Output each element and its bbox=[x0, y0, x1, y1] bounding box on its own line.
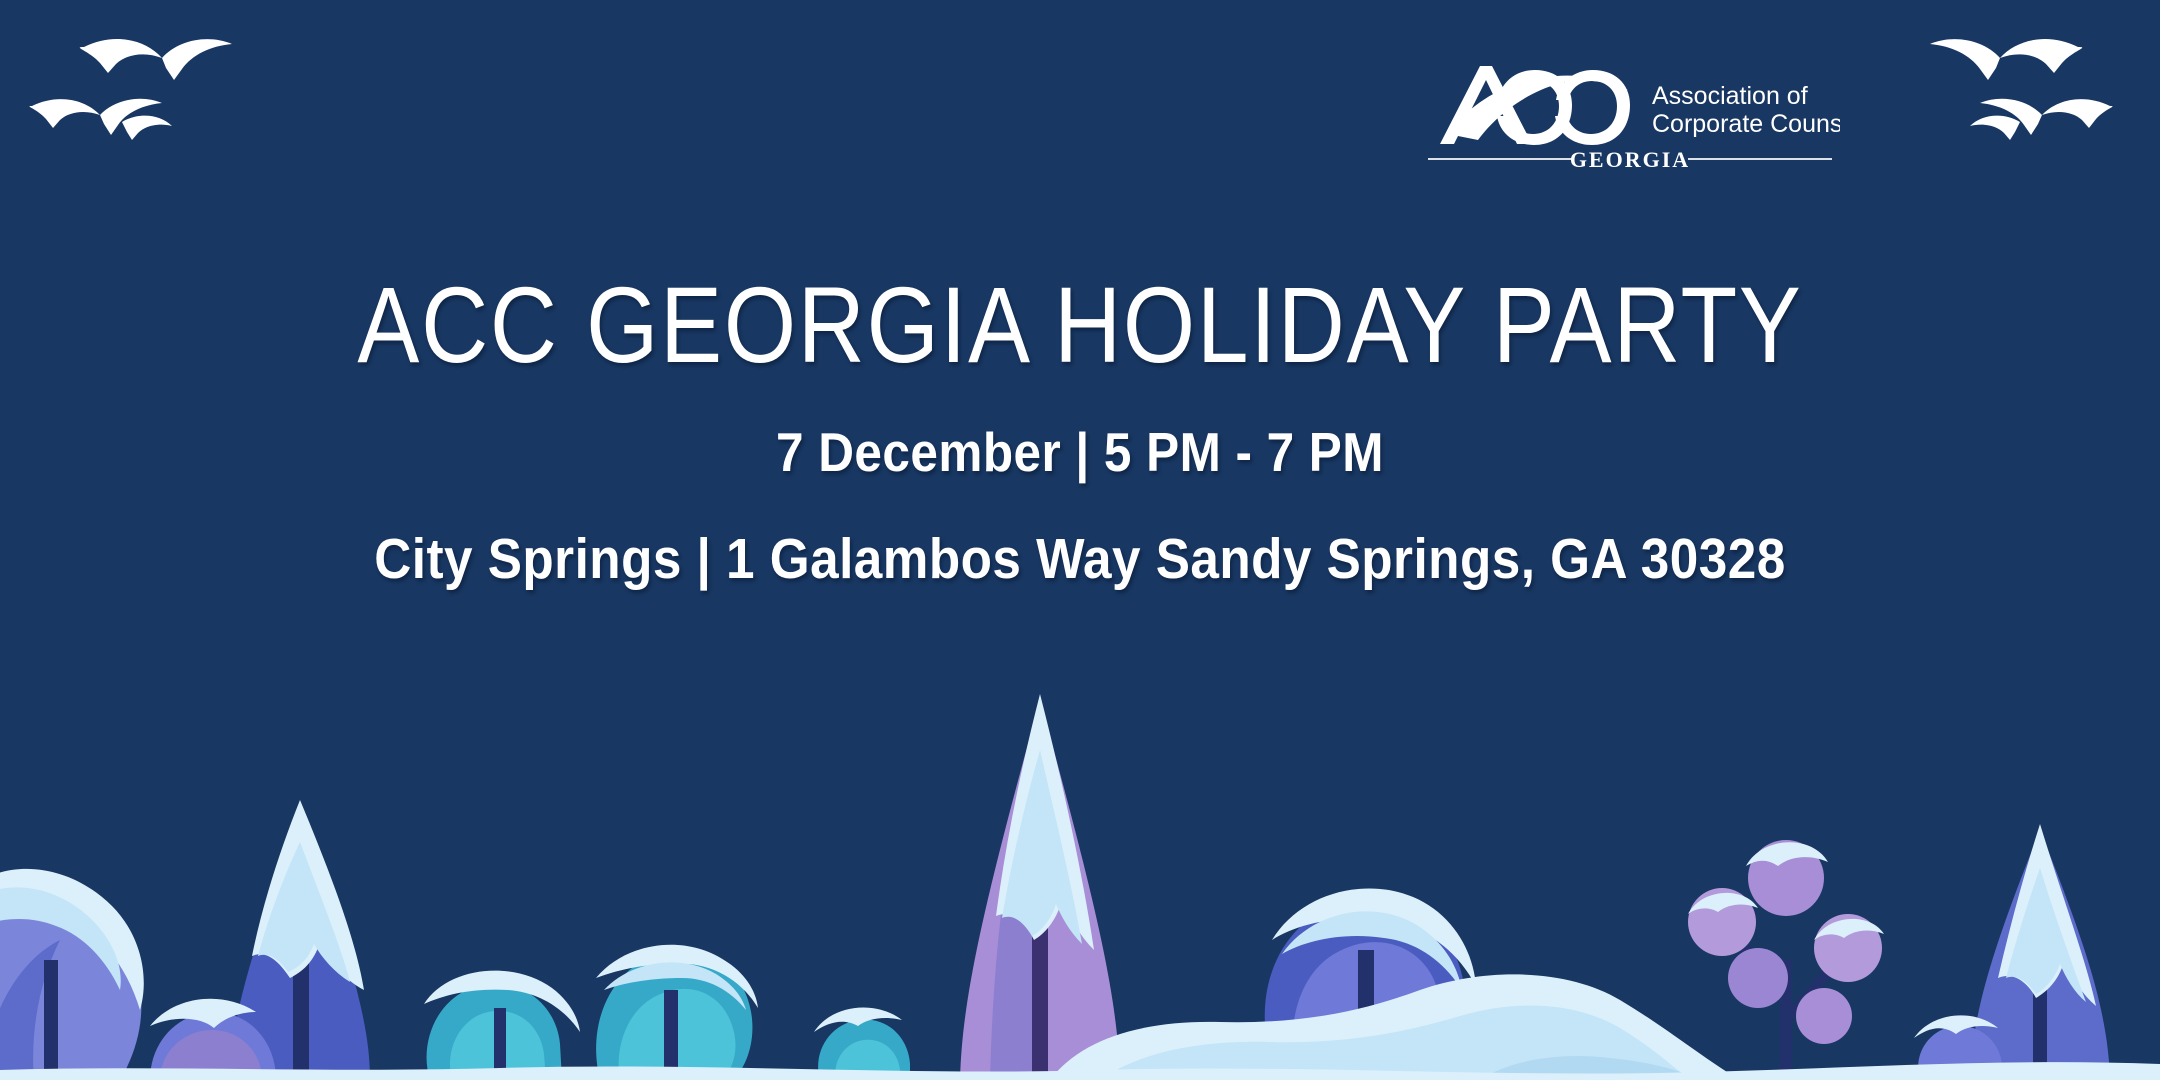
winter-forest-illustration bbox=[0, 660, 2160, 1080]
event-datetime: 7 December | 5 PM - 7 PM bbox=[108, 420, 2052, 484]
birds-left-group bbox=[26, 22, 246, 152]
logo-line-2: Corporate Counsel bbox=[1652, 110, 1840, 138]
logo-chapter: GEORGIA bbox=[1570, 147, 1690, 172]
page-title: ACC GEORGIA HOLIDAY PARTY bbox=[151, 268, 2009, 382]
tree-left-broadleaf bbox=[0, 869, 144, 1080]
logo-line-1: Association of bbox=[1652, 82, 1808, 110]
seagull-icon bbox=[1930, 39, 2082, 80]
tree-berry-violet bbox=[1688, 840, 1884, 1080]
seagull-icon bbox=[1970, 116, 2020, 140]
bush-teal bbox=[596, 945, 758, 1080]
event-venue: City Springs | 1 Galambos Way Sandy Spri… bbox=[108, 526, 2052, 592]
bush-front-left bbox=[424, 971, 580, 1080]
seagull-icon bbox=[80, 39, 232, 80]
event-banner: Association of Corporate Counsel GEORGIA… bbox=[0, 0, 2160, 1080]
event-text-block: ACC GEORGIA HOLIDAY PARTY 7 December | 5… bbox=[0, 268, 2160, 592]
acc-monogram-icon bbox=[1440, 66, 1630, 145]
acc-georgia-logo[interactable]: Association of Corporate Counsel GEORGIA bbox=[1420, 52, 1840, 172]
seagull-icon bbox=[29, 99, 162, 135]
seagull-icon bbox=[122, 116, 172, 140]
bush-front-center bbox=[814, 1008, 910, 1080]
tree-conifer-purple bbox=[960, 694, 1120, 1080]
seagull-icon bbox=[1980, 99, 2113, 135]
birds-right-group bbox=[1896, 22, 2136, 152]
